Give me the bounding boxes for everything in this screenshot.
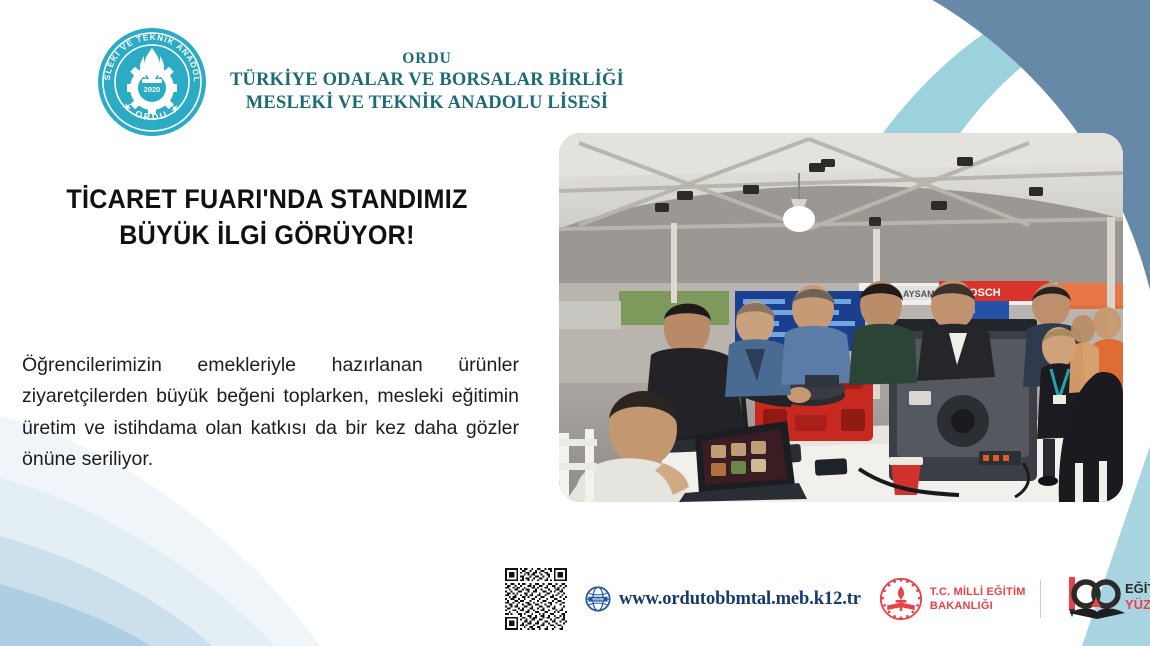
- header-line-3: MESLEKİ VE TEKNİK ANADOLU LİSESİ: [230, 92, 624, 115]
- arc-soft: [0, 478, 275, 646]
- svg-text:2020: 2020: [144, 85, 161, 94]
- header-title-block: ORDU TÜRKİYE ODALAR VE BORSALAR BİRLİĞİ …: [230, 49, 624, 114]
- globe-www-label: WWW: [592, 597, 603, 602]
- century-line-1: EĞİTİMİN: [1125, 581, 1150, 596]
- qr-code[interactable]: [505, 568, 567, 630]
- headline-line-1: TİCARET FUARI'NDA STANDIMIZ: [39, 182, 495, 218]
- arc-blue: [0, 584, 150, 646]
- century-line-2: YÜZYILI: [1125, 597, 1150, 612]
- website-group[interactable]: WWW www.ordutobbmtal.meb.k12.tr: [585, 586, 861, 612]
- meb-line-1: T.C. MİLLİ EĞİTİM: [930, 585, 1026, 599]
- poster-canvas: TOBB MESLEKİ VE TEKNİK ANADOLU LİSESİ ★ …: [0, 0, 1150, 646]
- footer-logo-bar: WWW www.ordutobbmtal.meb.k12.tr: [505, 563, 1150, 635]
- svg-text:AYSAM: AYSAM: [903, 289, 935, 299]
- header: TOBB MESLEKİ VE TEKNİK ANADOLU LİSESİ ★ …: [96, 26, 624, 138]
- globe-www-icon: WWW: [585, 586, 611, 612]
- meb-logo-group: T.C. MİLLİ EĞİTİM BAKANLIĞI: [879, 577, 1026, 621]
- century-of-education-logo: EĞİTİMİN YÜZYILI: [1055, 573, 1150, 625]
- arc-pale: [0, 536, 212, 646]
- event-photo: AYSAM BOSCH: [559, 133, 1123, 502]
- body-paragraph: Öğrencilerimizin emekleriyle hazırlanan …: [22, 350, 519, 476]
- meb-line-2: BAKANLIĞI: [930, 599, 1026, 613]
- website-url[interactable]: www.ordutobbmtal.meb.k12.tr: [619, 589, 861, 610]
- meb-label-block: T.C. MİLLİ EĞİTİM BAKANLIĞI: [930, 585, 1026, 613]
- page-title: TİCARET FUARI'NDA STANDIMIZ BÜYÜK İLGİ G…: [39, 182, 495, 253]
- photo-illustration: AYSAM BOSCH: [559, 133, 1123, 502]
- header-line-1: ORDU: [230, 49, 624, 68]
- footer-divider: [1040, 580, 1041, 618]
- school-crest-logo: TOBB MESLEKİ VE TEKNİK ANADOLU LİSESİ ★ …: [96, 26, 208, 138]
- header-line-2: TÜRKİYE ODALAR VE BORSALAR BİRLİĞİ: [230, 69, 624, 92]
- headline-line-2: BÜYÜK İLGİ GÖRÜYOR!: [39, 218, 495, 254]
- meb-seal-icon: [879, 577, 923, 621]
